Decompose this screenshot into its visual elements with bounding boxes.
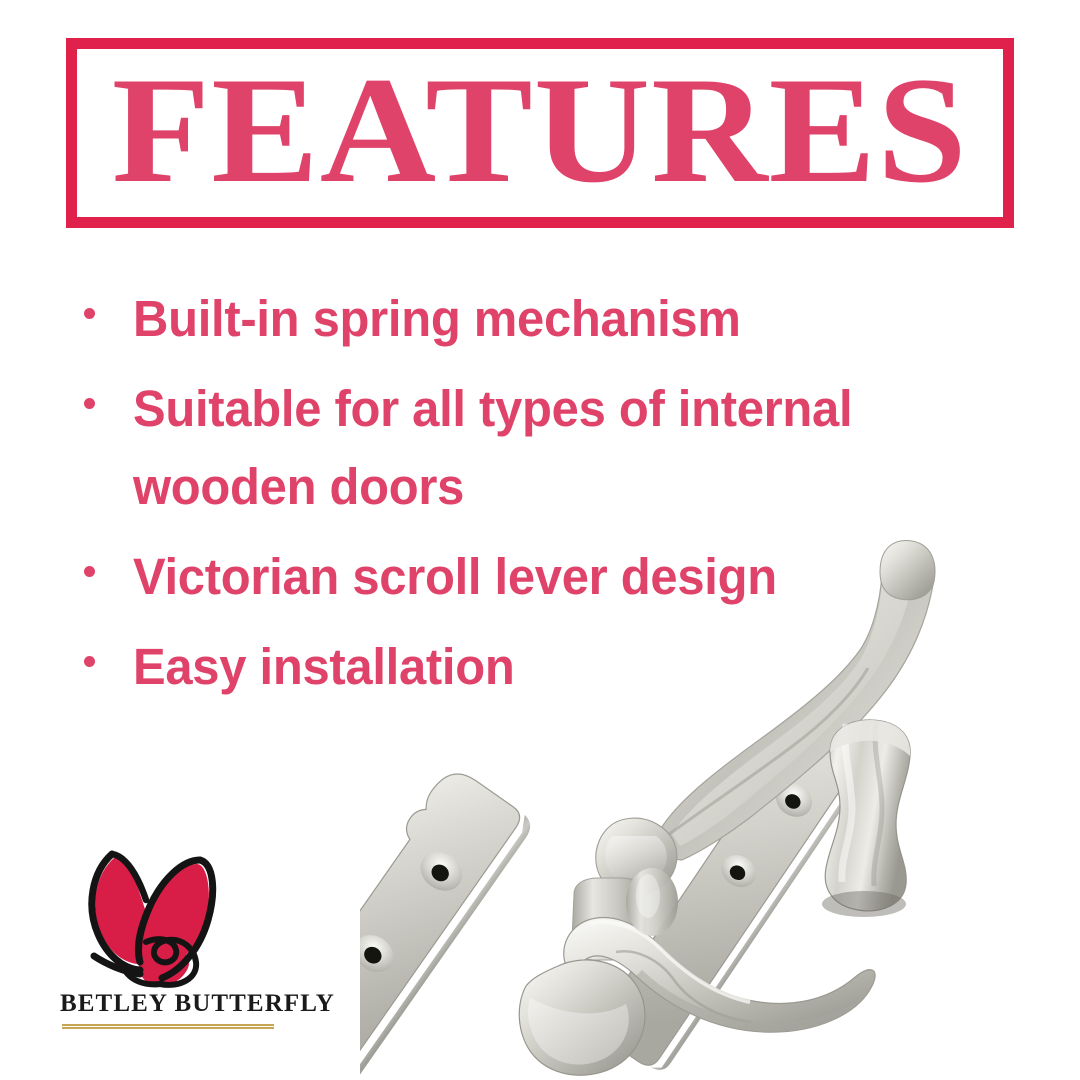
backplate-right-edge	[651, 748, 878, 1076]
bullet-dot-icon	[84, 308, 95, 319]
poster-canvas: FEATURES Built-in spring mechanism Suita…	[0, 0, 1080, 1080]
butterfly-icon	[74, 838, 234, 988]
logo-divider	[62, 1024, 274, 1029]
logo-divider-line	[62, 1027, 274, 1029]
list-item: Suitable for all types of internal woode…	[84, 370, 944, 526]
feature-label: Victorian scroll lever design	[133, 538, 777, 616]
spindle-boss	[626, 868, 678, 936]
bullet-dot-icon	[84, 398, 95, 409]
backplate-left-face	[360, 762, 525, 1080]
backplate-left	[360, 762, 536, 1080]
rose-knob-right	[822, 720, 910, 917]
feature-label: Built-in spring mechanism	[133, 280, 741, 358]
screw-hole	[715, 849, 762, 894]
list-item: Victorian scroll lever design	[84, 538, 944, 616]
logo-wordmark: BETLEY BUTTERFLY	[60, 990, 275, 1018]
screw-hole	[413, 844, 470, 899]
lever-scroll	[519, 878, 875, 1075]
brand-logo: BETLEY BUTTERFLY	[60, 838, 290, 1038]
screw-hole	[769, 776, 818, 824]
list-item: Built-in spring mechanism	[84, 280, 944, 358]
backplate-right	[582, 702, 878, 1077]
screw-hole	[360, 928, 401, 980]
bullet-dot-icon	[84, 656, 95, 667]
title-box: FEATURES	[66, 38, 1014, 228]
page-title: FEATURES	[112, 54, 968, 206]
feature-label: Suitable for all types of internal woode…	[133, 370, 912, 526]
backplate-left-edge	[360, 814, 536, 1080]
bullet-dot-icon	[84, 566, 95, 577]
list-item: Easy installation	[84, 628, 944, 706]
backplate-right-face	[582, 702, 868, 1070]
logo-divider-line	[62, 1024, 274, 1026]
feature-list: Built-in spring mechanism Suitable for a…	[84, 280, 944, 718]
feature-label: Easy installation	[133, 628, 514, 706]
